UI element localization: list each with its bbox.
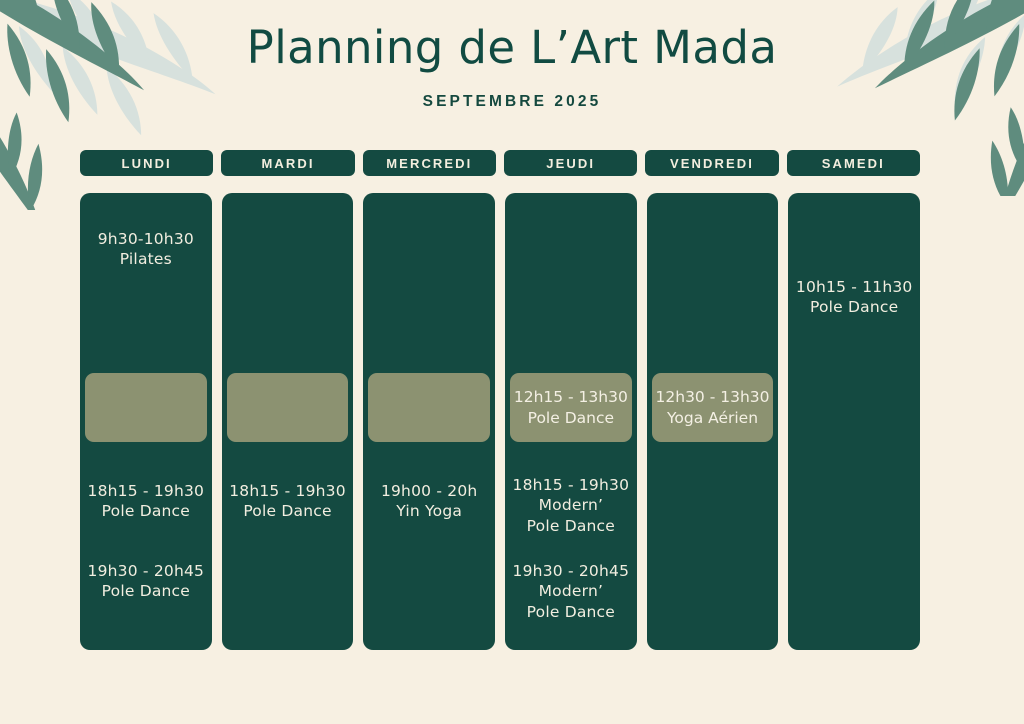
class-time: 18h15 - 19h30 (228, 481, 348, 501)
class-time: 19h30 - 20h45 (86, 561, 206, 581)
day-header-mercredi[interactable]: MERCREDI (363, 150, 496, 176)
page-header: Planning de L’Art Mada SEPTEMBRE 2025 (0, 0, 1024, 111)
class-slot-mardi-evening-1[interactable]: 18h15 - 19h30 Pole Dance (222, 481, 354, 522)
highlight-band-mercredi[interactable] (368, 373, 490, 442)
day-header-samedi[interactable]: SAMEDI (787, 150, 920, 176)
class-time: 18h15 - 19h30 (511, 475, 631, 495)
class-activity: Pilates (86, 249, 206, 269)
class-activity: Modern’ (511, 495, 631, 515)
class-activity-line2: Pole Dance (511, 602, 631, 622)
highlight-band-mardi[interactable] (227, 373, 349, 442)
class-slot-jeudi-evening-1[interactable]: 18h15 - 19h30 Modern’ Pole Dance (505, 475, 637, 536)
class-time: 9h30-10h30 (86, 229, 206, 249)
day-column-samedi: 10h15 - 11h30 Pole Dance (788, 193, 920, 650)
day-header-jeudi[interactable]: JEUDI (504, 150, 637, 176)
class-slot-mercredi-evening-1[interactable]: 19h00 - 20h Yin Yoga (363, 481, 495, 522)
page-subtitle: SEPTEMBRE 2025 (0, 93, 1024, 111)
class-activity-line2: Pole Dance (511, 516, 631, 536)
class-slot-lundi-morning[interactable]: 9h30-10h30 Pilates (80, 229, 212, 270)
day-column-mardi: 18h15 - 19h30 Pole Dance (222, 193, 354, 650)
class-activity: Pole Dance (528, 408, 614, 429)
page-title: Planning de L’Art Mada (0, 22, 1024, 74)
schedule-board: LUNDI MARDI MERCREDI JEUDI VENDREDI SAME… (80, 150, 920, 650)
class-activity: Yoga Aérien (667, 408, 758, 429)
class-activity: Pole Dance (228, 501, 348, 521)
class-activity: Modern’ (511, 581, 631, 601)
day-column-mercredi: 19h00 - 20h Yin Yoga (363, 193, 495, 650)
class-time: 19h30 - 20h45 (511, 561, 631, 581)
class-time: 19h00 - 20h (369, 481, 489, 501)
class-activity: Yin Yoga (369, 501, 489, 521)
class-slot-samedi-morning[interactable]: 10h15 - 11h30 Pole Dance (788, 277, 920, 318)
class-time: 12h30 - 13h30 (656, 387, 770, 408)
class-slot-lundi-evening-1[interactable]: 18h15 - 19h30 Pole Dance (80, 481, 212, 522)
class-activity: Pole Dance (86, 581, 206, 601)
highlight-band-jeudi[interactable]: 12h15 - 13h30 Pole Dance (510, 373, 632, 442)
day-header-mardi[interactable]: MARDI (221, 150, 354, 176)
day-header-row: LUNDI MARDI MERCREDI JEUDI VENDREDI SAME… (80, 150, 920, 176)
highlight-band-lundi[interactable] (85, 373, 207, 442)
day-column-jeudi: 12h15 - 13h30 Pole Dance 18h15 - 19h30 M… (505, 193, 637, 650)
class-activity: Pole Dance (86, 501, 206, 521)
class-activity: Pole Dance (794, 297, 914, 317)
day-column-lundi: 9h30-10h30 Pilates 18h15 - 19h30 Pole Da… (80, 193, 212, 650)
day-header-vendredi[interactable]: VENDREDI (645, 150, 778, 176)
day-columns: 9h30-10h30 Pilates 18h15 - 19h30 Pole Da… (80, 193, 920, 650)
class-slot-jeudi-evening-2[interactable]: 19h30 - 20h45 Modern’ Pole Dance (505, 561, 637, 622)
class-time: 12h15 - 13h30 (514, 387, 628, 408)
class-time: 10h15 - 11h30 (794, 277, 914, 297)
day-column-vendredi: 12h30 - 13h30 Yoga Aérien (647, 193, 779, 650)
day-header-lundi[interactable]: LUNDI (80, 150, 213, 176)
class-slot-lundi-evening-2[interactable]: 19h30 - 20h45 Pole Dance (80, 561, 212, 602)
highlight-band-vendredi[interactable]: 12h30 - 13h30 Yoga Aérien (652, 373, 774, 442)
class-time: 18h15 - 19h30 (86, 481, 206, 501)
